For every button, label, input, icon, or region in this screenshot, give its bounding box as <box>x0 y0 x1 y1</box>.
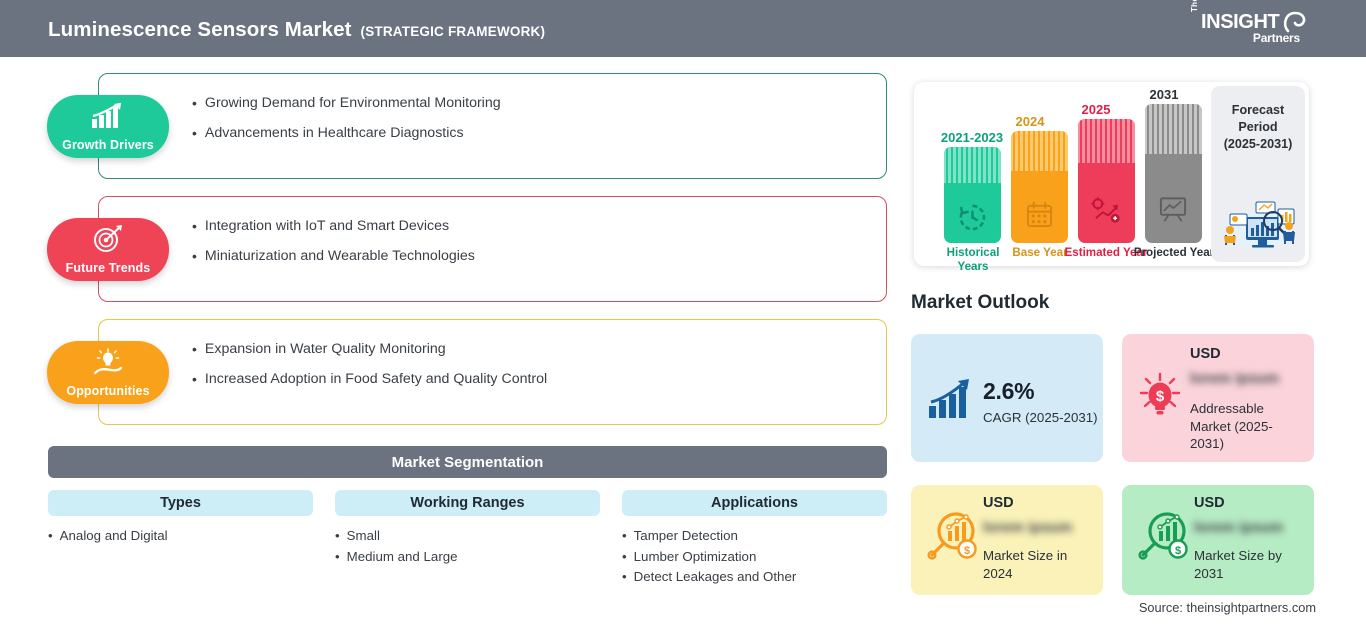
list-item: • Detect Leakages and Other <box>622 567 902 588</box>
bullet-text: Advancements in Healthcare Diagnostics <box>205 125 464 142</box>
segment-header-label: Applications <box>711 495 798 511</box>
bullet-item: • Integration with IoT and Smart Devices <box>192 218 872 235</box>
market-outlook-title: Market Outlook <box>911 292 1049 314</box>
segment-header-label: Types <box>160 495 201 511</box>
bullet-dot: • <box>622 567 627 588</box>
forecast-line-3: (2025-2031) <box>1211 136 1305 153</box>
forecast-line-2: Period <box>1211 119 1305 136</box>
page-subtitle: (STRATEGIC FRAMEWORK) <box>361 24 546 39</box>
source-attribution: Source: theinsightpartners.com <box>1139 600 1316 615</box>
bullet-dot: • <box>192 371 197 388</box>
page-header: Luminescence Sensors Market (STRATEGIC F… <box>0 0 1366 57</box>
segment-header-types: Types <box>48 490 313 516</box>
outlook-card-cagr: 2.6% CAGR (2025-2031) <box>911 334 1103 462</box>
list-item: • Tamper Detection <box>622 526 902 547</box>
bullet-item: • Miniaturization and Wearable Technolog… <box>192 248 872 265</box>
bullet-text: Expansion in Water Quality Monitoring <box>205 341 446 358</box>
bar-stripes <box>1078 119 1135 163</box>
timeline-bar-projected <box>1145 104 1202 243</box>
logo-the-text: The <box>1190 0 1199 12</box>
bullet-item: • Growing Demand for Environmental Monit… <box>192 95 872 112</box>
bullet-item: • Expansion in Water Quality Monitoring <box>192 341 882 358</box>
blurred-value: lorem ipsum <box>983 519 1072 536</box>
bullet-dot: • <box>622 547 627 568</box>
list-item-label: Tamper Detection <box>634 526 738 547</box>
currency-label: USD <box>1194 495 1225 511</box>
list-item-label: Detect Leakages and Other <box>634 567 797 588</box>
bullet-dot: • <box>192 341 197 358</box>
pill-opportunities[interactable]: Opportunities <box>47 341 169 404</box>
bullet-item: • Increased Adoption in Food Safety and … <box>192 371 882 388</box>
market-segmentation-title: Market Segmentation <box>392 454 544 471</box>
forecast-period-panel: Forecast Period (2025-2031) <box>1211 86 1305 262</box>
target-dart-icon <box>90 225 126 258</box>
svg-text:$: $ <box>964 545 970 557</box>
timeline-caption-projected: Projected Year <box>1127 246 1221 260</box>
logo-arc-icon <box>1282 10 1308 34</box>
bullet-text: Increased Adoption in Food Safety and Qu… <box>205 371 547 388</box>
page-title: Luminescence Sensors Market <box>48 18 352 42</box>
list-item-label: Lumber Optimization <box>634 547 757 568</box>
outlook-card-market-size-2031: $ USD lorem ipsum Market Size by 2031 <box>1122 485 1314 595</box>
outlook-card-market-size-2024: $ USD lorem ipsum Market Size in 2024 <box>911 485 1103 595</box>
bullet-dot: • <box>622 526 627 547</box>
market-timeline-card: 2021-2023 Historical Years 2024 <box>914 82 1309 266</box>
lightbulb-dollar-icon: $ <box>1136 370 1184 420</box>
bar-stripes <box>944 147 1001 183</box>
estimate-chart-icon <box>1091 197 1122 224</box>
list-item-label: Analog and Digital <box>60 526 168 547</box>
forecast-period-text: Forecast Period (2025-2031) <box>1211 102 1305 153</box>
timeline-year-label: 2031 <box>1127 87 1201 102</box>
magnifier-bar-chart-dollar-icon: $ <box>925 509 979 563</box>
bullet-dot: • <box>335 547 340 568</box>
pill-growth-drivers[interactable]: Growth Drivers <box>47 95 169 158</box>
pill-label-growth-drivers: Growth Drivers <box>62 139 154 152</box>
list-item-label: Medium and Large <box>347 547 458 568</box>
data-analytics-illustration <box>1216 190 1300 252</box>
segment-list-types: • Analog and Digital <box>48 526 318 547</box>
cagr-description: CAGR (2025-2031) <box>983 410 1098 425</box>
bullet-list-opportunities: • Expansion in Water Quality Monitoring … <box>192 341 882 388</box>
timeline-caption-historical: Historical Years <box>934 246 1012 274</box>
list-item-label: Small <box>347 526 380 547</box>
bar-chart-arrow-icon <box>927 378 975 420</box>
bullet-item: • Advancements in Healthcare Diagnostics <box>192 125 872 142</box>
blurred-value: lorem ipsum <box>1194 519 1283 536</box>
bullet-dot: • <box>335 526 340 547</box>
bullet-dot: • <box>192 125 197 142</box>
bar-stripes <box>1145 104 1202 154</box>
bullet-text: Growing Demand for Environmental Monitor… <box>205 95 501 112</box>
insight-partners-logo: The INSIGHT Partners <box>1190 10 1308 50</box>
pill-label-opportunities: Opportunities <box>66 385 149 398</box>
timeline-bar-historical <box>944 147 1001 243</box>
cagr-value: 2.6% <box>983 378 1034 405</box>
list-item: • Medium and Large <box>335 547 605 568</box>
svg-text:$: $ <box>1156 388 1165 405</box>
list-item: • Lumber Optimization <box>622 547 902 568</box>
bullet-text: Integration with IoT and Smart Devices <box>205 218 449 235</box>
svg-text:$: $ <box>1175 545 1181 557</box>
bar-chart-arrow-icon <box>88 102 128 135</box>
bullet-list-growth-drivers: • Growing Demand for Environmental Monit… <box>192 95 872 142</box>
timeline-bar-estimated <box>1078 119 1135 243</box>
forecast-line-1: Forecast <box>1211 102 1305 119</box>
calendar-icon <box>1026 201 1053 228</box>
card-description: Market Size by 2031 <box>1194 547 1302 582</box>
timeline-bar-base <box>1011 131 1068 243</box>
timeline-year-label: 2025 <box>1059 102 1133 117</box>
bar-stripes <box>1011 131 1068 171</box>
pill-future-trends[interactable]: Future Trends <box>47 218 169 281</box>
bullet-text: Miniaturization and Wearable Technologie… <box>205 248 475 265</box>
hand-lightbulb-icon <box>89 348 127 383</box>
list-item: • Analog and Digital <box>48 526 318 547</box>
segment-header-working-ranges: Working Ranges <box>335 490 600 516</box>
outlook-card-addressable-market: $ USD lorem ipsum Addressable Market (20… <box>1122 334 1314 462</box>
magnifier-bar-chart-dollar-icon: $ <box>1136 509 1190 563</box>
market-strategic-framework-page: Luminescence Sensors Market (STRATEGIC F… <box>0 0 1366 635</box>
pill-label-future-trends: Future Trends <box>66 262 151 275</box>
card-description: Market Size in 2024 <box>983 547 1091 582</box>
bullet-dot: • <box>192 218 197 235</box>
segment-header-applications: Applications <box>622 490 887 516</box>
segment-list-working-ranges: • Small • Medium and Large <box>335 526 605 567</box>
segment-header-label: Working Ranges <box>410 495 524 511</box>
currency-label: USD <box>1190 346 1221 362</box>
header-title-group: Luminescence Sensors Market (STRATEGIC F… <box>48 18 545 42</box>
bullet-dot: • <box>48 526 53 547</box>
bullet-list-future-trends: • Integration with IoT and Smart Devices… <box>192 218 872 265</box>
currency-label: USD <box>983 495 1014 511</box>
segment-list-applications: • Tamper Detection • Lumber Optimization… <box>622 526 902 588</box>
list-item: • Small <box>335 526 605 547</box>
card-description: Addressable Market (2025-2031) <box>1190 400 1300 453</box>
blurred-value: lorem ipsum <box>1190 370 1279 387</box>
bullet-dot: • <box>192 248 197 265</box>
timeline-year-label: 2024 <box>993 114 1067 129</box>
timeline-year-label: 2021-2023 <box>924 130 1020 145</box>
market-segmentation-banner: Market Segmentation <box>48 446 887 478</box>
projection-screen-icon <box>1159 196 1188 222</box>
bullet-dot: • <box>192 95 197 112</box>
history-clock-icon <box>958 203 987 232</box>
